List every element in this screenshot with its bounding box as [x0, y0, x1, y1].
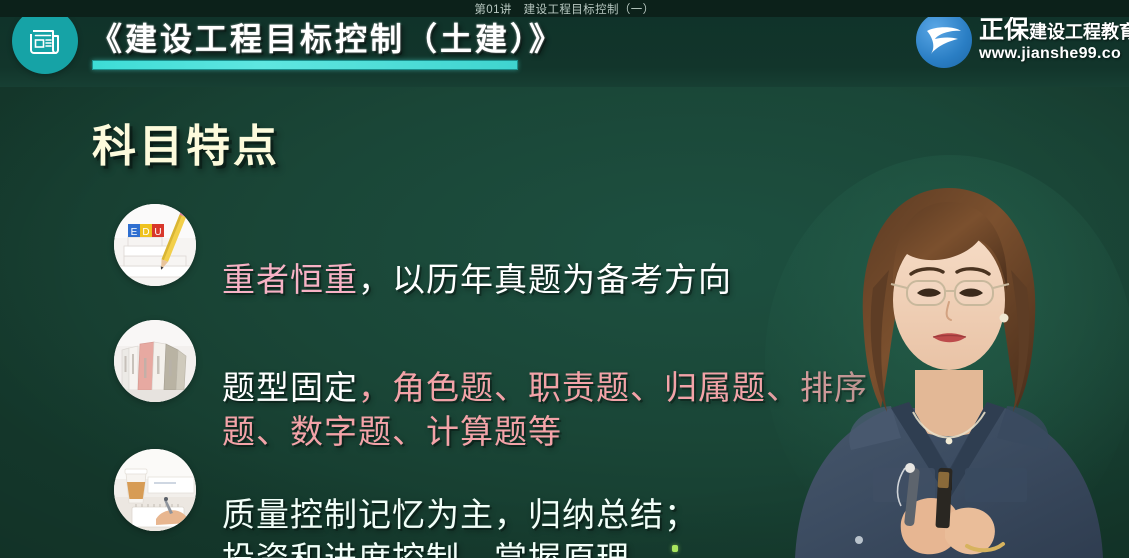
video-player-frame: 第01讲 建设工程目标控制（一） 《建设工程目标控制（土建）》 正保 建设工程教…	[0, 0, 1129, 558]
page-title: 科目特点	[92, 110, 280, 174]
list-item-text: 重者恒重，以历年真题为备考方向	[222, 214, 732, 302]
bullet-segment: 题型固定	[222, 369, 358, 406]
list-item: 质量控制记忆为主，归纳总结； 投资和进度控制，掌握原理	[114, 449, 698, 558]
svg-text:E: E	[131, 227, 138, 238]
list-item-text: 质量控制记忆为主，归纳总结； 投资和进度控制，掌握原理	[222, 449, 698, 558]
bullet-segment: ，以历年真题为备考方向	[358, 261, 732, 298]
list-item-text: 题型固定，角色题、职责题、归属题、排序 题、数字题、计算题等	[222, 322, 868, 454]
brand-name-strong: 正保	[979, 17, 1029, 43]
svg-text:U: U	[154, 227, 161, 238]
svg-text:D: D	[142, 227, 149, 238]
lecture-title-bar: 第01讲 建设工程目标控制（一）	[0, 0, 1129, 17]
books-edu-blocks-pencil-photo-icon: E D U	[114, 204, 196, 286]
bullet-segment: 重者恒重	[222, 261, 358, 298]
brand-text: 正保 建设工程教育 www.jianshe99.co	[979, 17, 1129, 62]
status-dot	[672, 545, 678, 552]
standing-books-photo-icon	[114, 320, 196, 402]
lecture-title-text: 第01讲 建设工程目标控制（一）	[474, 1, 654, 17]
newspaper-icon	[12, 8, 78, 74]
notebook-writing-coffee-photo-icon	[114, 449, 196, 531]
brand-logo[interactable]: 正保 建设工程教育 www.jianshe99.co	[916, 12, 1129, 68]
bullet-segment: 质量控制记忆为主，归纳总结； 投资和进度控制，掌握原理	[222, 496, 698, 558]
list-item: E D U 重者恒重，以历年真题为备考方向	[114, 204, 732, 302]
course-title: 《建设工程目标控制（土建）》	[90, 14, 564, 60]
zhengbao-z-logo-icon	[916, 12, 972, 68]
title-underline-bar	[92, 60, 518, 70]
list-item: 题型固定，角色题、职责题、归属题、排序 题、数字题、计算题等	[114, 320, 868, 454]
brand-name-rest: 建设工程教育	[1029, 23, 1129, 42]
brand-url: www.jianshe99.co	[979, 46, 1129, 63]
